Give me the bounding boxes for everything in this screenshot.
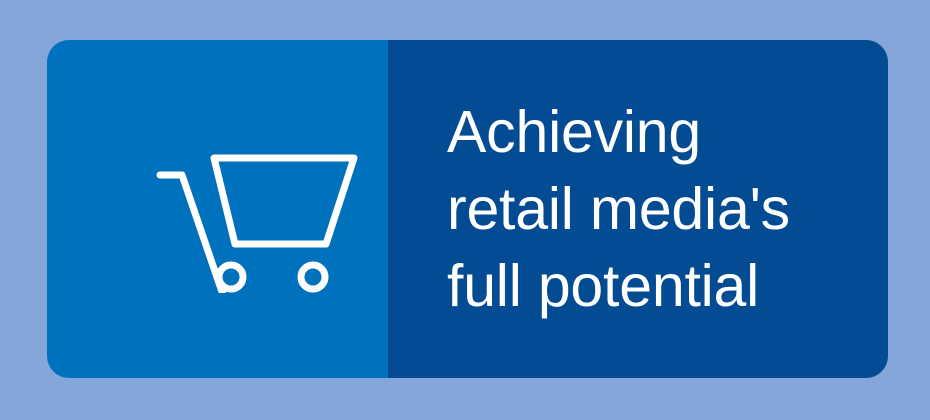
canvas: Achieving retail media's full potential: [0, 0, 930, 420]
card-headline: Achieving retail media's full potential: [447, 94, 888, 325]
retail-media-promo-card[interactable]: Achieving retail media's full potential: [47, 40, 888, 378]
headline-line-1: Achieving: [447, 94, 888, 171]
card-icon-panel: [47, 40, 388, 378]
headline-line-3: full potential: [447, 248, 888, 325]
shopping-cart-icon: [104, 118, 364, 293]
card-text-panel: Achieving retail media's full potential: [388, 40, 888, 378]
headline-line-2: retail media's: [447, 171, 888, 248]
